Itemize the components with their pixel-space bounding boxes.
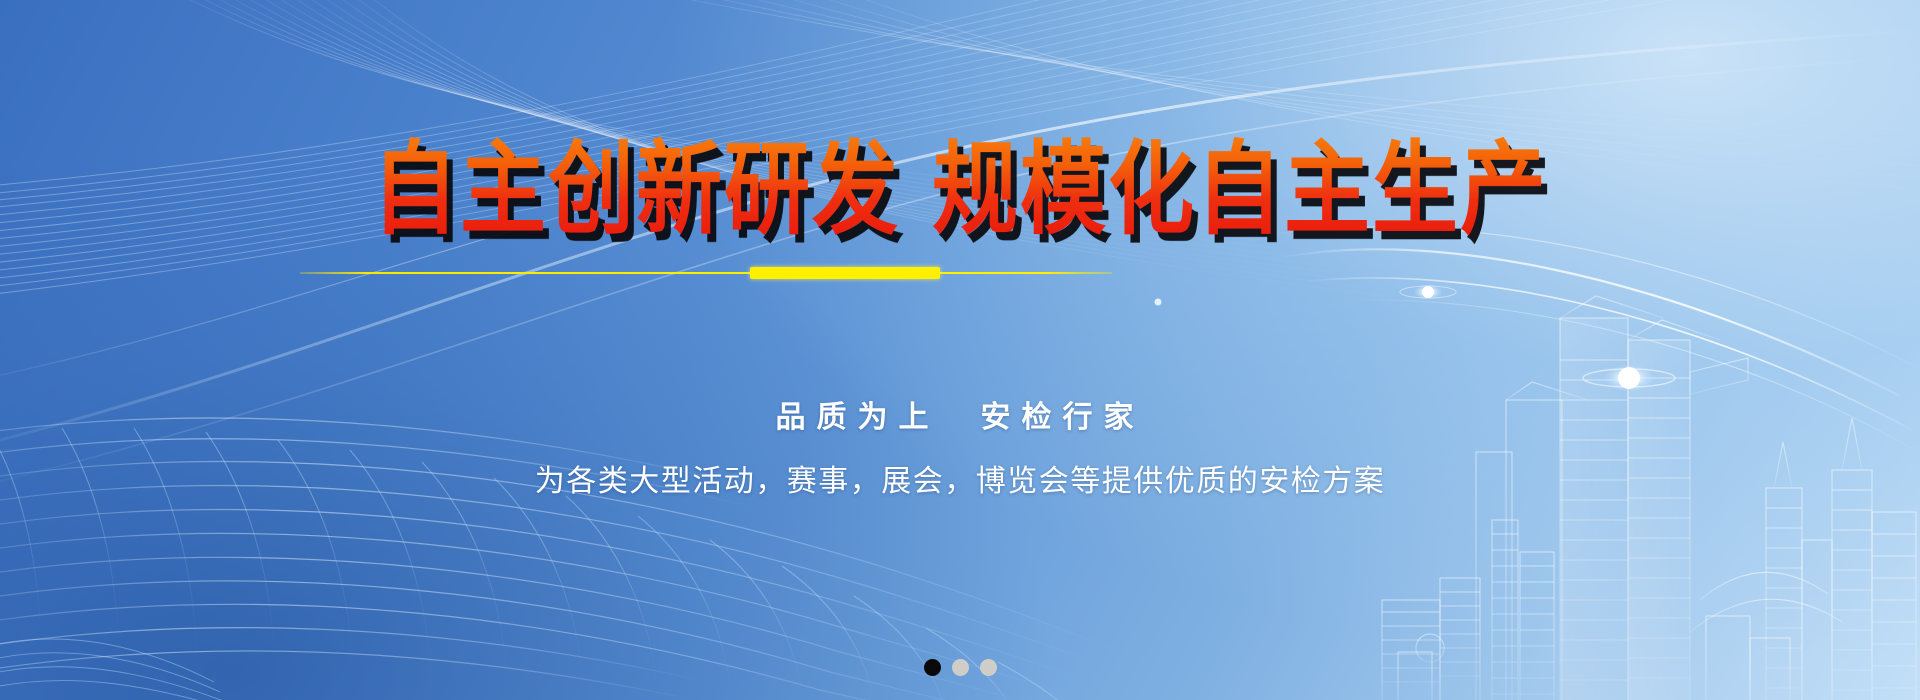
hero-banner: 自主创新研发 规模化自主生产 品质为上 安检行家 为各类大型活动，赛事，展会，博… <box>0 0 1920 700</box>
banner-subtitle-wrap: 品质为上 安检行家 为各类大型活动，赛事，展会，博览会等提供优质的安检方案 <box>0 392 1920 500</box>
yellow-divider <box>300 266 1112 280</box>
carousel-dot-2[interactable] <box>952 659 969 676</box>
banner-description: 为各类大型活动，赛事，展会，博览会等提供优质的安检方案 <box>0 456 1920 500</box>
banner-title-wrap: 自主创新研发 规模化自主生产 <box>0 78 1920 286</box>
carousel-dot-3[interactable] <box>980 659 997 676</box>
carousel-dots[interactable] <box>0 659 1920 676</box>
divider-thin-line <box>300 272 1112 274</box>
carousel-dot-1[interactable] <box>924 659 941 676</box>
page-title: 自主创新研发 规模化自主生产 <box>372 136 1548 246</box>
divider-thick-segment <box>750 267 940 279</box>
banner-slogan: 品质为上 安检行家 <box>0 392 1920 436</box>
